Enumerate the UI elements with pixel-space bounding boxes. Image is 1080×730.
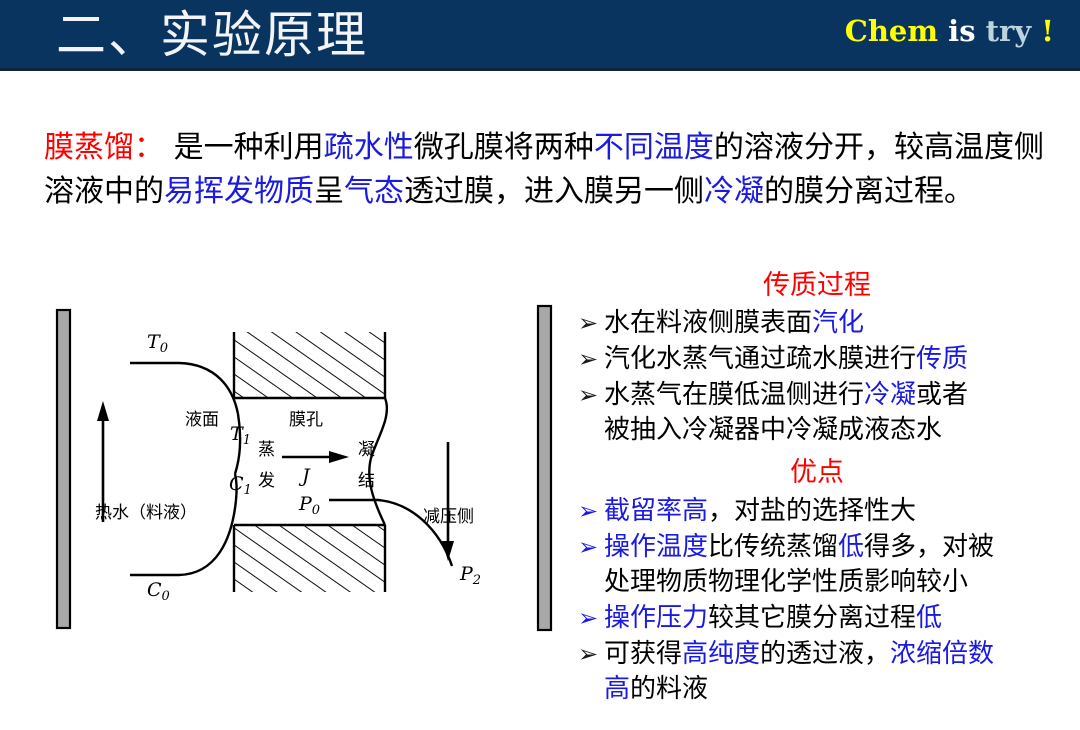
advantage-text: 操作压力 bbox=[604, 603, 708, 633]
mass-transfer-list: ➢水在料液侧膜表面汽化➢汽化水蒸气通过疏水膜进行传质➢水蒸气在膜低温侧进行冷凝或… bbox=[578, 306, 1056, 448]
mass-transfer-item: ➢水在料液侧膜表面汽化 bbox=[578, 306, 1056, 341]
advantage-item: ➢可获得高纯度的透过液，浓缩倍数高的料液 bbox=[578, 637, 1056, 707]
advantage-text: ，对盐的选择性大 bbox=[708, 496, 916, 526]
advantage-text: 截留率高 bbox=[604, 496, 708, 526]
mass-transfer-line: 被抽入冷凝器中冷凝成液态水 bbox=[604, 413, 1056, 448]
label-hot-water-feed: 热水（料液） bbox=[95, 503, 197, 523]
left-vessel-wall bbox=[57, 310, 70, 628]
label-C1: C1 bbox=[229, 473, 252, 498]
definition-highlight-4: 气态 bbox=[344, 174, 404, 209]
advantage-text: 得多，对被 bbox=[864, 532, 994, 562]
advantage-text: 高纯度 bbox=[682, 639, 760, 669]
definition-highlight-1: 疏水性 bbox=[324, 130, 414, 165]
advantage-text: 低 bbox=[838, 532, 864, 562]
mass-transfer-line: 汽化水蒸气通过疏水膜进行传质 bbox=[604, 342, 1056, 377]
advantage-item: ➢截留率高，对盐的选择性大 bbox=[578, 494, 1056, 529]
definition-seg-2: 微孔膜将两种 bbox=[414, 130, 594, 165]
advantage-line: 处理物质物理化学性质影响较小 bbox=[604, 565, 1056, 600]
definition-seg-6: 的膜分离过程。 bbox=[764, 174, 974, 209]
label-membrane-pore: 膜孔 bbox=[289, 410, 323, 430]
section-heading-mass-transfer: 传质过程 bbox=[578, 268, 1056, 304]
definition-seg-1: 是一种利用 bbox=[174, 130, 324, 165]
advantage-line: 截留率高，对盐的选择性大 bbox=[604, 494, 1056, 529]
advantage-item: ➢操作温度比传统蒸馏低得多，对被处理物质物理化学性质影响较小 bbox=[578, 530, 1056, 600]
definition-paragraph: 膜蒸馏： 是一种利用疏水性微孔膜将两种不同温度的溶液分开，较高温度侧溶液中的易挥… bbox=[44, 126, 1044, 214]
advantage-text: 可获得 bbox=[604, 639, 682, 669]
brand-word-try: try bbox=[986, 14, 1032, 48]
mass-transfer-text: 汽化水蒸气通过疏水膜进行 bbox=[604, 344, 916, 374]
advantage-item: ➢操作压力较其它膜分离过程低 bbox=[578, 601, 1056, 636]
advantage-text: 高 bbox=[604, 674, 630, 704]
section-heading-advantages: 优点 bbox=[578, 455, 1056, 491]
brand-word-is: is bbox=[948, 14, 975, 48]
bullet-arrow-icon: ➢ bbox=[578, 530, 598, 565]
label-P2: P2 bbox=[459, 563, 481, 588]
advantage-line: 操作压力较其它膜分离过程低 bbox=[604, 601, 1056, 636]
advantage-text: 的透过液， bbox=[760, 639, 890, 669]
mass-transfer-text: 汽化 bbox=[812, 308, 864, 338]
mass-transfer-line: 水在料液侧膜表面汽化 bbox=[604, 306, 1056, 341]
advantage-text: 低 bbox=[916, 603, 942, 633]
label-flux-J: J bbox=[298, 465, 311, 487]
membrane-distillation-diagram: T0 T1 C1 C0 P0 P2 J 液面 热水（料液） 膜孔 蒸发 凝结 减… bbox=[40, 290, 560, 650]
advantage-line: 高的料液 bbox=[604, 672, 1056, 707]
definition-seg-5: 透过膜，进入膜另一侧 bbox=[404, 174, 704, 209]
mass-transfer-item: ➢水蒸气在膜低温侧进行冷凝或者被抽入冷凝器中冷凝成液态水 bbox=[578, 378, 1056, 448]
advantage-text: 比传统蒸馏 bbox=[708, 532, 838, 562]
mass-transfer-line: 水蒸气在膜低温侧进行冷凝或者 bbox=[604, 378, 1056, 413]
mass-transfer-text: 传质 bbox=[916, 344, 968, 374]
mass-transfer-text: 冷凝 bbox=[864, 380, 916, 410]
mass-transfer-text: 水蒸气在膜低温侧进行 bbox=[604, 380, 864, 410]
advantage-text: 处理物质物理化学性质影响较小 bbox=[604, 567, 968, 597]
label-P0: P0 bbox=[298, 493, 320, 518]
membrane-bottom-block bbox=[234, 525, 385, 592]
advantage-text: 浓缩倍数 bbox=[890, 639, 994, 669]
definition-seg-4: 呈 bbox=[314, 174, 344, 209]
definition-highlight-2: 不同温度 bbox=[594, 130, 714, 165]
advantage-text: 的料液 bbox=[630, 674, 708, 704]
concentration-profile-curve bbox=[130, 474, 237, 575]
page-title: 二、实验原理 bbox=[56, 2, 368, 68]
label-liquid-surface: 液面 bbox=[185, 410, 219, 430]
permeate-flow-arrow bbox=[442, 442, 454, 561]
bullet-arrow-icon: ➢ bbox=[578, 637, 598, 672]
right-content-column: 传质过程 ➢水在料液侧膜表面汽化➢汽化水蒸气通过疏水膜进行传质➢水蒸气在膜低温侧… bbox=[578, 268, 1056, 708]
advantage-text: 较其它膜分离过程 bbox=[708, 603, 916, 633]
definition-highlight-5: 冷凝 bbox=[704, 174, 764, 209]
bullet-arrow-icon: ➢ bbox=[578, 601, 598, 636]
brand-word-chem: Chem bbox=[845, 14, 938, 48]
mass-transfer-text: 或者 bbox=[916, 380, 968, 410]
slide-header-bar: 二、实验原理 Chem is try ! bbox=[0, 0, 1080, 71]
flux-arrow bbox=[282, 451, 349, 463]
mass-transfer-text: 被抽入冷凝器中冷凝成液态水 bbox=[604, 415, 942, 445]
mass-transfer-text: 水在料液侧膜表面 bbox=[604, 308, 812, 338]
bullet-arrow-icon: ➢ bbox=[578, 342, 598, 377]
label-condensation: 凝结 bbox=[358, 440, 375, 491]
advantage-line: 操作温度比传统蒸馏低得多，对被 bbox=[604, 530, 1056, 565]
definition-highlight-3: 易挥发物质 bbox=[164, 174, 314, 209]
permeate-boundary-curve bbox=[369, 398, 387, 525]
brand-word-exclaim: ! bbox=[1041, 14, 1054, 48]
bullet-arrow-icon: ➢ bbox=[578, 494, 598, 529]
bullet-arrow-icon: ➢ bbox=[578, 306, 598, 341]
advantages-list: ➢截留率高，对盐的选择性大➢操作温度比传统蒸馏低得多，对被处理物质物理化学性质影… bbox=[578, 494, 1056, 707]
brand-logo: Chem is try ! bbox=[845, 14, 1054, 48]
label-C0: C0 bbox=[147, 579, 170, 604]
label-reduced-pressure-side: 减压侧 bbox=[423, 507, 474, 527]
right-vessel-wall bbox=[538, 306, 551, 630]
advantage-text: 操作温度 bbox=[604, 532, 708, 562]
label-T1: T1 bbox=[230, 423, 251, 448]
advantage-line: 可获得高纯度的透过液，浓缩倍数 bbox=[604, 637, 1056, 672]
label-T0: T0 bbox=[147, 331, 168, 356]
bullet-arrow-icon: ➢ bbox=[578, 378, 598, 413]
membrane-top-block bbox=[234, 332, 385, 398]
definition-term: 膜蒸馏： bbox=[44, 130, 164, 165]
mass-transfer-item: ➢汽化水蒸气通过疏水膜进行传质 bbox=[578, 342, 1056, 377]
label-evaporation: 蒸发 bbox=[258, 440, 275, 491]
